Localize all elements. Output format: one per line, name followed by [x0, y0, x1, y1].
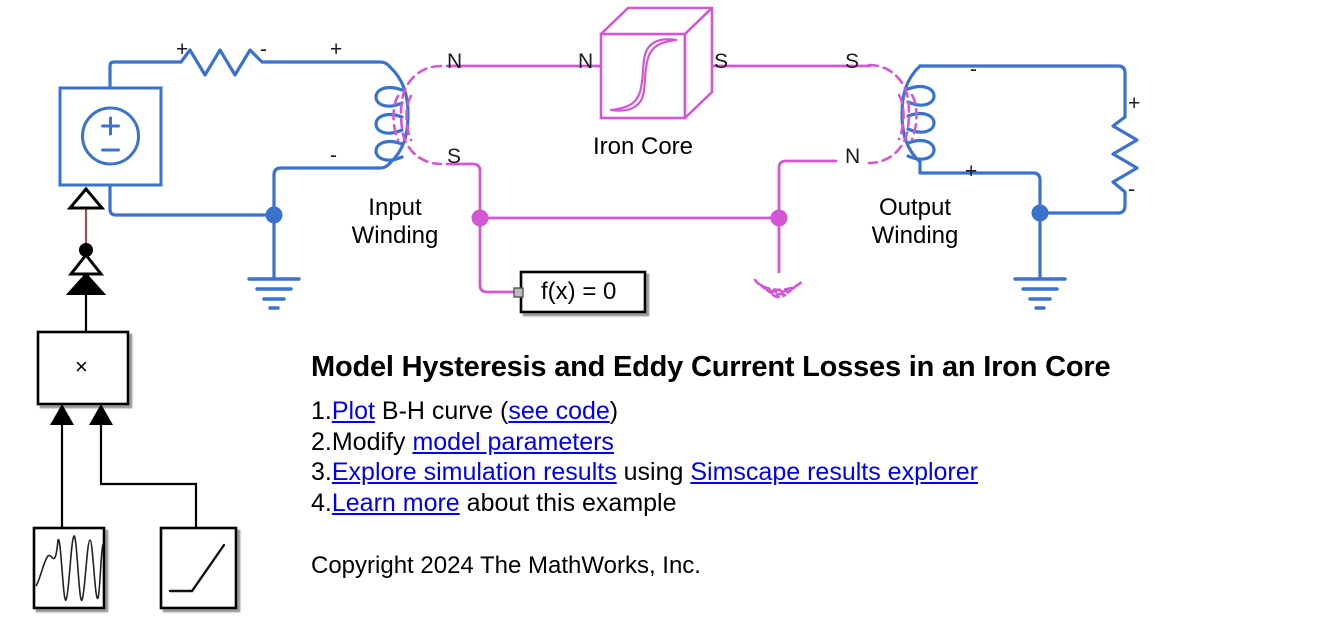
step-item: 1. Plot B-H curve (see code) — [311, 396, 1331, 427]
junction-dot-magnetic-left — [472, 210, 489, 227]
input-winding-block[interactable] — [376, 66, 441, 164]
step-link[interactable]: Simscape results explorer — [690, 458, 978, 486]
product-input-arrow-2 — [89, 404, 113, 425]
input-winding-label: Input Winding — [330, 194, 460, 250]
step-link[interactable]: Plot — [332, 397, 375, 425]
polarity-src-resistor-plus: + — [176, 38, 188, 62]
port-input-winding-bottom-S: S — [447, 145, 461, 169]
steps-list: 1. Plot B-H curve (see code)2. Modify mo… — [311, 396, 1331, 518]
port-core-left-N: N — [578, 50, 593, 74]
polarity-load-resistor-minus: - — [1128, 178, 1135, 202]
description-panel: Model Hysteresis and Eddy Current Losses… — [311, 351, 1331, 580]
step-text: B-H curve ( — [375, 397, 508, 425]
port-output-winding-top-S: S — [845, 50, 859, 74]
step-link[interactable]: model parameters — [412, 428, 613, 456]
step-text: about this example — [460, 489, 677, 517]
polarity-load-resistor-plus: + — [1128, 92, 1140, 116]
product-block-label: × — [75, 354, 88, 380]
voltage-source-block[interactable] — [60, 88, 161, 185]
magnetic-reference-icon — [755, 280, 803, 297]
step-link[interactable]: Learn more — [332, 489, 460, 517]
junction-dot-magnetic-right — [771, 210, 788, 227]
step-text: using — [617, 458, 691, 486]
simulink-ps-converter-solid-icon — [68, 274, 104, 294]
electrical-reference-left-icon — [249, 279, 299, 308]
iron-core-block[interactable] — [601, 8, 712, 118]
step-link[interactable]: see code — [508, 397, 609, 425]
step-number: 1. — [311, 396, 332, 427]
output-winding-block[interactable] — [869, 65, 934, 163]
copyright-text: Copyright 2024 The MathWorks, Inc. — [311, 552, 1331, 580]
solver-port — [514, 288, 523, 297]
ramp-signal-block[interactable] — [161, 528, 236, 608]
polarity-output-winding-plus: + — [965, 160, 977, 184]
step-item: 3. Explore simulation results using Sims… — [311, 457, 1331, 488]
step-text: ) — [610, 397, 618, 425]
step-item: 4. Learn more about this example — [311, 488, 1331, 519]
step-number: 3. — [311, 457, 332, 488]
electrical-reference-right-icon — [1015, 279, 1065, 308]
junction-dot-output — [1032, 205, 1049, 222]
solver-block-label: f(x) = 0 — [541, 278, 616, 306]
polarity-input-winding-plus: + — [330, 38, 342, 62]
iron-core-label: Iron Core — [583, 133, 703, 161]
polarity-src-resistor-minus: - — [260, 38, 267, 62]
junction-dot-input — [266, 207, 283, 224]
step-number: 4. — [311, 488, 332, 519]
ps-port-icon — [70, 189, 102, 208]
polarity-output-winding-minus: - — [970, 58, 977, 82]
signal-chain — [62, 293, 196, 528]
step-link[interactable]: Explore simulation results — [332, 458, 617, 486]
port-core-right-S: S — [714, 50, 728, 74]
product-input-arrow-1 — [50, 404, 74, 425]
simulink-ps-converter-hollow-icon — [71, 255, 101, 274]
port-output-winding-bottom-N: N — [845, 145, 860, 169]
step-text: Modify — [332, 428, 413, 456]
port-input-winding-top-N: N — [447, 50, 462, 74]
page-title: Model Hysteresis and Eddy Current Losses… — [311, 351, 1331, 384]
output-winding-label: Output Winding — [850, 194, 980, 250]
polarity-input-winding-minus: - — [330, 144, 337, 168]
chirp-signal-block[interactable] — [34, 528, 104, 608]
step-item: 2. Modify model parameters — [311, 427, 1331, 458]
step-number: 2. — [311, 427, 332, 458]
